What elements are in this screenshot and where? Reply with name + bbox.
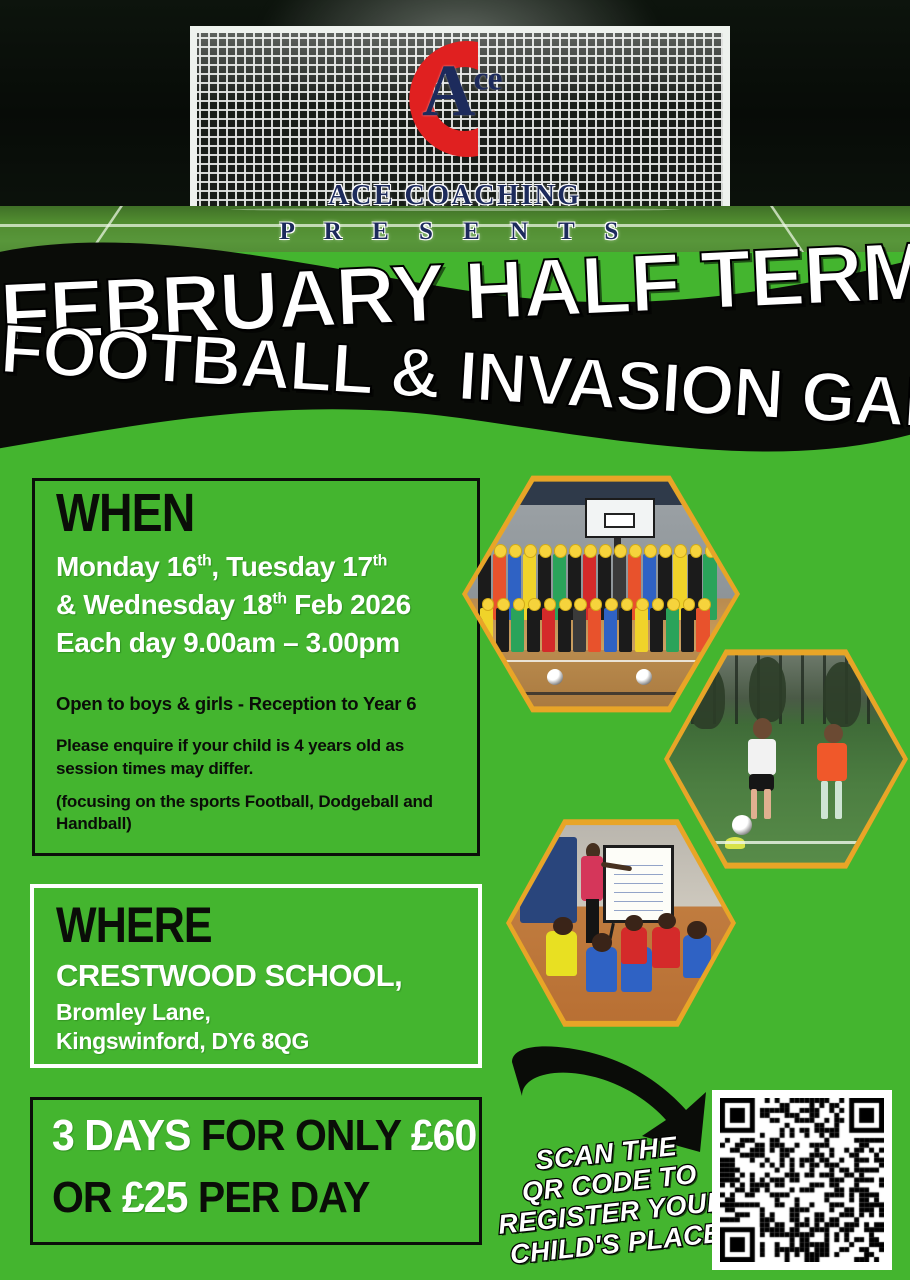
ace-coaching-logo: Ace xyxy=(0,28,910,175)
outdoor-pitch-scene xyxy=(669,651,903,867)
player-head xyxy=(753,718,772,739)
logo-mark: Ace xyxy=(382,28,528,170)
when-dates: Monday 16th, Tuesday 17th & Wednesday 18… xyxy=(56,548,456,662)
coach-red-shirt xyxy=(581,856,603,901)
qr-code[interactable] xyxy=(712,1090,892,1270)
player-leg xyxy=(751,789,758,818)
child-head xyxy=(553,917,573,935)
brand-name: ACE COACHING xyxy=(0,180,910,212)
outdoor-football-photo xyxy=(664,646,908,872)
ball-icon xyxy=(547,669,563,685)
when-date-line-1: Monday 16th, Tuesday 17th xyxy=(56,551,387,582)
children-row-front xyxy=(480,608,721,652)
outdoor-football-photo-inner xyxy=(669,651,903,867)
child-head xyxy=(625,915,643,931)
price-line-1: 3 DAYS FOR ONLY £60 xyxy=(52,1114,476,1158)
scan-instructions: SCAN THE QR CODE TO REGISTER YOUR CHILD'… xyxy=(490,1126,731,1270)
child-head xyxy=(592,933,612,951)
gym-group-photo-inner xyxy=(467,477,735,711)
poster-root: Ace ACE COACHING P R E S E N T S FEBRUAR… xyxy=(0,0,910,1280)
when-note-2: (focusing on the sports Football, Dodgeb… xyxy=(56,791,451,837)
child-red-bib xyxy=(621,927,647,964)
where-address: Bromley Lane, Kingswinford, DY6 8QG xyxy=(56,998,309,1056)
player-shirt xyxy=(748,739,776,775)
whiteboard-icon xyxy=(603,845,673,923)
where-school-name: CRESTWOOD SCHOOL, xyxy=(56,960,402,991)
child-head xyxy=(687,921,707,939)
player-leg xyxy=(821,781,828,819)
pitch-marking xyxy=(683,841,889,844)
court-line xyxy=(488,660,713,662)
title-wave-banner xyxy=(0,236,910,462)
coach-whiteboard-photo xyxy=(506,816,736,1030)
price-line-2: OR £25 PER DAY xyxy=(52,1176,370,1220)
when-date-line-3: Each day 9.00am – 3.00pm xyxy=(56,627,400,658)
football-icon xyxy=(732,815,752,835)
player-shirt xyxy=(817,743,846,781)
when-notes: Please enquire if your child is 4 years … xyxy=(56,735,451,846)
qr-code-image[interactable] xyxy=(720,1098,884,1262)
blue-curtain xyxy=(520,837,577,923)
player-leg xyxy=(835,781,842,819)
ball-icon xyxy=(636,669,652,685)
when-open-to: Open to boys & girls - Reception to Year… xyxy=(56,692,456,716)
when-note-1: Please enquire if your child is 4 years … xyxy=(56,735,451,781)
child-blue-bib xyxy=(683,935,712,978)
where-heading: WHERE xyxy=(56,900,212,950)
player-leg xyxy=(764,789,771,818)
court-line-2 xyxy=(494,692,708,695)
when-date-line-2: & Wednesday 18th Feb 2026 xyxy=(56,589,411,620)
player-white-shirt xyxy=(744,737,786,823)
basketball-hoop-icon xyxy=(585,498,655,538)
tree xyxy=(749,657,786,722)
gym-group-photo xyxy=(462,472,740,716)
tree xyxy=(823,662,860,727)
logo-ace-text: Ace xyxy=(422,54,502,128)
player-orange-shirt xyxy=(814,742,856,824)
child-blue-bib xyxy=(586,947,617,992)
player-head xyxy=(824,724,843,744)
when-heading: WHEN xyxy=(56,486,194,540)
gym-scene xyxy=(467,477,735,711)
sports-hall-scene xyxy=(511,821,731,1025)
where-address-line-1: Bromley Lane, xyxy=(56,999,211,1025)
where-address-line-2: Kingswinford, DY6 8QG xyxy=(56,1028,309,1054)
coach-whiteboard-photo-inner xyxy=(511,821,731,1025)
child-yellow-bib xyxy=(546,931,577,976)
tree xyxy=(688,664,725,729)
child-red-bib xyxy=(652,927,681,968)
child-head xyxy=(658,913,676,929)
